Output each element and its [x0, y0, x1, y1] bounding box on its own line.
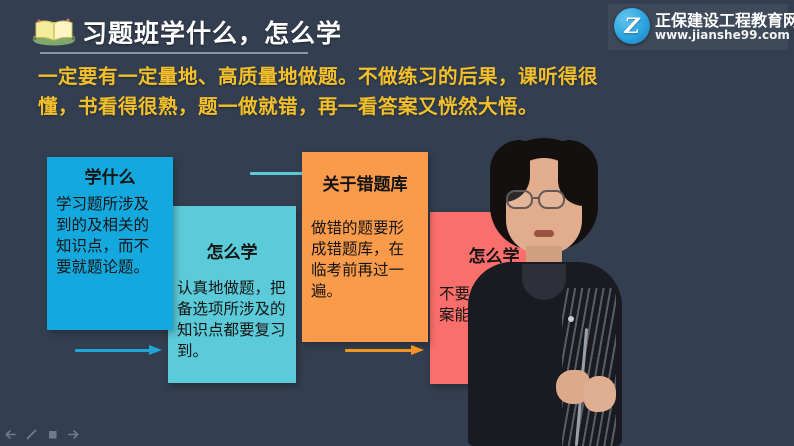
card-learn-what: 学什么 学习题所涉及到的及相关的知识点，而不要就题论题。 — [47, 157, 173, 330]
presenter-glasses-bridge — [533, 197, 540, 199]
lead-paragraph: 一定要有一定量地、高质量地做题。不做练习的后果，课听得很懂，书看得很熟，题一做就… — [38, 62, 598, 122]
arrow-head — [149, 345, 162, 355]
presenter-microphone-icon — [568, 316, 574, 322]
presenter-hand-right — [584, 376, 616, 412]
annotation-toolbar[interactable] — [4, 428, 80, 441]
undo-arrow-icon[interactable] — [4, 428, 17, 441]
card-body: 学习题所涉及到的及相关的知识点，而不要就题论题。 — [56, 194, 164, 278]
arrow-shaft — [345, 349, 415, 352]
page-title: 习题班学什么，怎么学 — [82, 14, 342, 50]
logo-badge-letter: Z — [614, 8, 650, 44]
presenter-shirt-stripes — [562, 288, 616, 446]
presenter-glasses-right — [538, 190, 565, 209]
card-title: 关于错题库 — [311, 174, 419, 196]
slide-canvas: 习题班学什么，怎么学 Z 正保建设工程教育网 www.jianshe99.com… — [0, 0, 794, 446]
arrow-shaft — [75, 349, 153, 352]
card-title: 学什么 — [56, 167, 164, 189]
pen-icon[interactable] — [25, 428, 38, 441]
arrow-head — [411, 345, 424, 355]
presenter-glasses-left — [506, 190, 533, 209]
title-underline — [40, 52, 308, 54]
presenter-mouth — [534, 230, 554, 237]
card-body: 认真地做题，把备选项所涉及的知识点都要复习到。 — [177, 278, 287, 362]
logo-website-url: www.jianshe99.com — [655, 28, 790, 42]
site-logo[interactable]: Z 正保建设工程教育网 www.jianshe99.com — [608, 4, 788, 50]
card-about-wrong-question-bank: 关于错题库 做错的题要形成错题库，在临考前再过一遍。 — [302, 152, 428, 342]
redo-arrow-icon[interactable] — [67, 428, 80, 441]
open-book-icon — [32, 16, 76, 46]
card-how-to-learn-1: 怎么学 认真地做题，把备选项所涉及的知识点都要复习到。 — [168, 206, 296, 383]
presenter-video — [444, 138, 644, 446]
square-icon[interactable] — [46, 428, 59, 441]
logo-badge-icon: Z — [614, 8, 650, 44]
card-title: 怎么学 — [177, 242, 287, 264]
card-body: 做错的题要形成错题库，在临考前再过一遍。 — [311, 218, 419, 302]
